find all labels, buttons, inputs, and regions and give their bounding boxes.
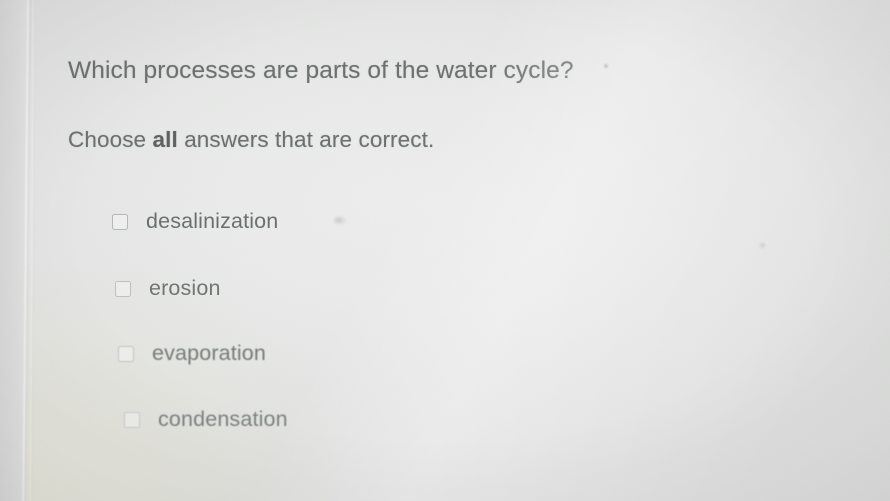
- instruction-prefix: Choose: [68, 127, 153, 152]
- option-label[interactable]: condensation: [158, 407, 288, 432]
- question-prompt: Which processes are parts of the water c…: [68, 57, 574, 85]
- option-row-erosion[interactable]: erosion: [115, 276, 221, 301]
- option-label[interactable]: erosion: [149, 276, 221, 301]
- checkbox-unchecked-icon[interactable]: [115, 281, 131, 297]
- question-content: Which processes are parts of the water c…: [0, 0, 890, 501]
- quiz-screen: Which processes are parts of the water c…: [0, 0, 890, 501]
- option-row-evaporation[interactable]: evaporation: [118, 341, 266, 366]
- option-label[interactable]: evaporation: [152, 341, 266, 366]
- checkbox-unchecked-icon[interactable]: [118, 346, 134, 362]
- option-row-condensation[interactable]: condensation: [124, 407, 288, 432]
- checkbox-unchecked-icon[interactable]: [124, 412, 140, 428]
- instruction-emphasis: all: [153, 127, 178, 152]
- question-instruction: Choose all answers that are correct.: [68, 127, 434, 153]
- checkbox-unchecked-icon[interactable]: [112, 214, 128, 230]
- option-row-desalinization[interactable]: desalinization: [112, 209, 278, 234]
- option-label[interactable]: desalinization: [146, 209, 278, 234]
- instruction-suffix: answers that are correct.: [178, 127, 434, 152]
